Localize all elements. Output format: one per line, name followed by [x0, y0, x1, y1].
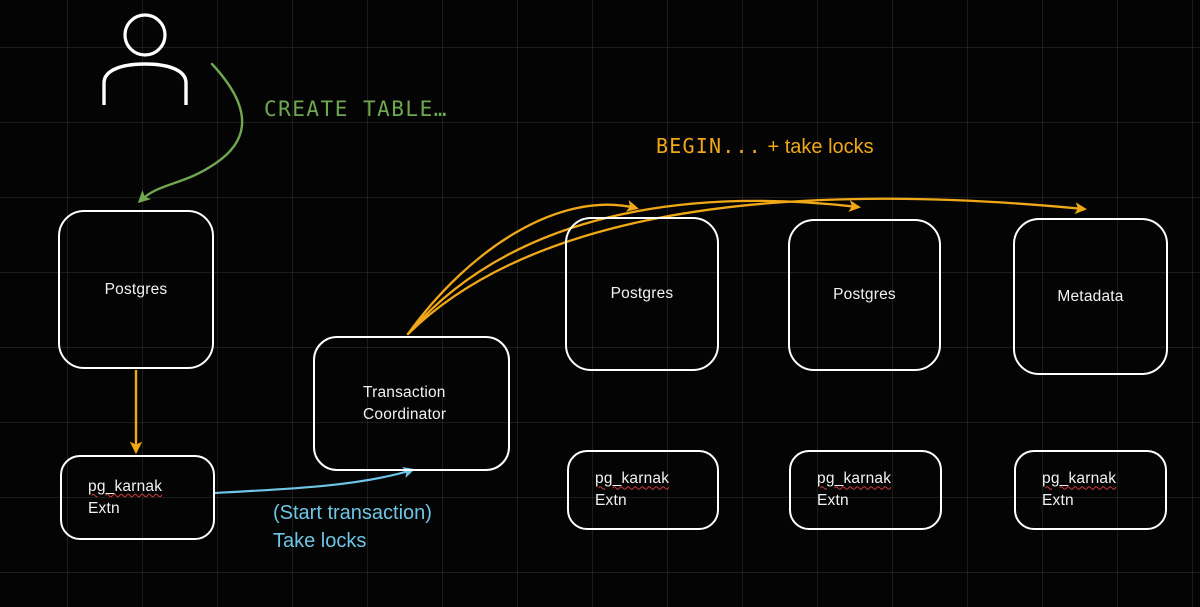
caption-create-table: CREATE TABLE… [264, 97, 448, 121]
node-worker-extension-1-line2: Extn [595, 492, 627, 509]
node-worker-extension-3[interactable]: pg_karnak Extn [1014, 450, 1167, 530]
node-coordinator-extension-name: pg_karnak [88, 476, 162, 498]
node-coordinator-extension-label: pg_karnak Extn [62, 476, 162, 519]
node-worker-postgres-1-label: Postgres [611, 283, 674, 304]
node-worker-extension-3-label: pg_karnak Extn [1016, 468, 1116, 511]
node-transaction-coordinator[interactable]: Transaction Coordinator [313, 336, 510, 471]
node-worker-extension-3-line2: Extn [1042, 492, 1074, 509]
node-worker-extension-1-name: pg_karnak [595, 468, 669, 490]
node-coordinator-extension-line2: Extn [88, 500, 120, 517]
node-coordinator-postgres-label: Postgres [105, 279, 168, 300]
node-worker-extension-3-name: pg_karnak [1042, 468, 1116, 490]
caption-begin-mono: BEGIN... [656, 134, 762, 158]
node-worker-extension-1[interactable]: pg_karnak Extn [567, 450, 719, 530]
node-worker-extension-2[interactable]: pg_karnak Extn [789, 450, 942, 530]
edge-begin-metadata [408, 199, 1084, 334]
node-coordinator-extension[interactable]: pg_karnak Extn [60, 455, 215, 540]
user-person-icon [96, 8, 196, 108]
node-worker-postgres-2[interactable]: Postgres [788, 219, 941, 371]
caption-start-transaction: (Start transaction) Take locks [273, 499, 432, 556]
node-worker-metadata[interactable]: Metadata [1013, 218, 1168, 375]
caption-begin-take-locks: BEGIN... + take locks [656, 134, 874, 159]
node-worker-extension-2-line2: Extn [817, 492, 849, 509]
diagram-canvas: CREATE TABLE… BEGIN... + take locks (Sta… [0, 0, 1200, 607]
node-worker-postgres-1[interactable]: Postgres [565, 217, 719, 371]
node-worker-extension-1-label: pg_karnak Extn [569, 468, 669, 511]
node-worker-extension-2-name: pg_karnak [817, 468, 891, 490]
node-worker-postgres-2-label: Postgres [833, 284, 896, 305]
caption-begin-sans: + take locks [762, 136, 874, 158]
node-transaction-coordinator-label: Transaction Coordinator [315, 382, 446, 425]
caption-start-transaction-line2: Take locks [273, 527, 432, 555]
node-coordinator-postgres[interactable]: Postgres [58, 210, 214, 369]
node-worker-metadata-label: Metadata [1057, 286, 1123, 307]
caption-start-transaction-line1: (Start transaction) [273, 499, 432, 527]
node-worker-extension-2-label: pg_karnak Extn [791, 468, 891, 511]
edge-start-transaction [214, 470, 412, 493]
